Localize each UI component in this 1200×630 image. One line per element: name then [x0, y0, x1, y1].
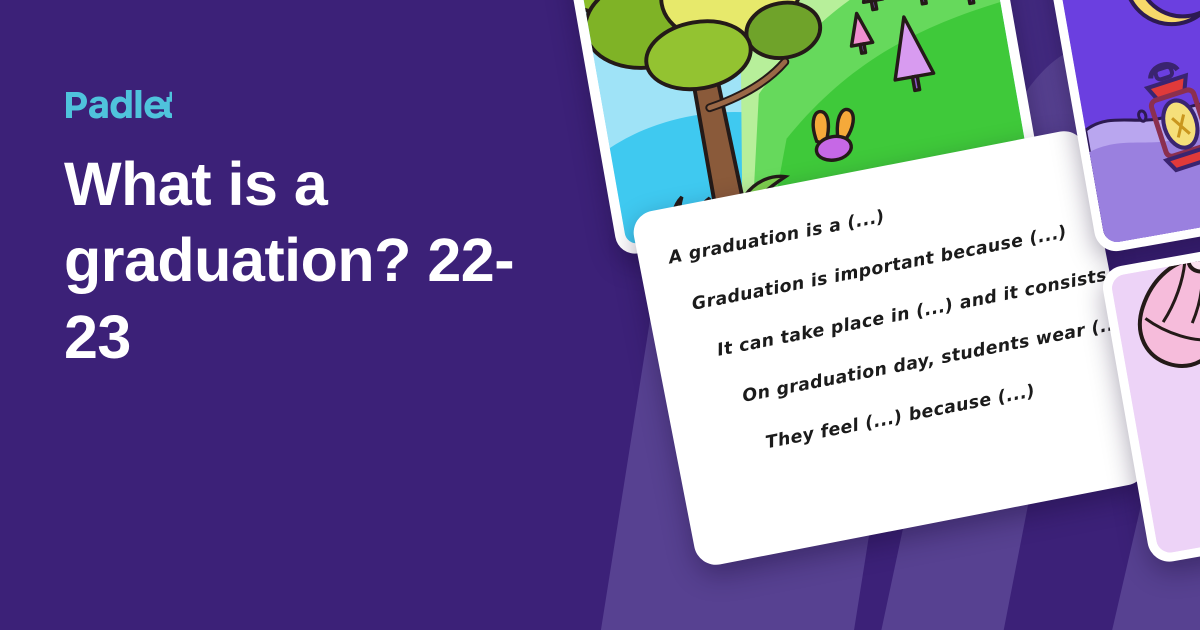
padlet-logo[interactable]	[64, 84, 564, 124]
left-content-column: What is a graduation? 22-23	[64, 84, 564, 375]
page-title: What is a graduation? 22-23	[64, 146, 524, 375]
share-card-canvas: What is a graduation? 22-23	[0, 0, 1200, 630]
padlet-wordmark-icon	[64, 89, 172, 119]
seashell-image	[1110, 245, 1200, 554]
